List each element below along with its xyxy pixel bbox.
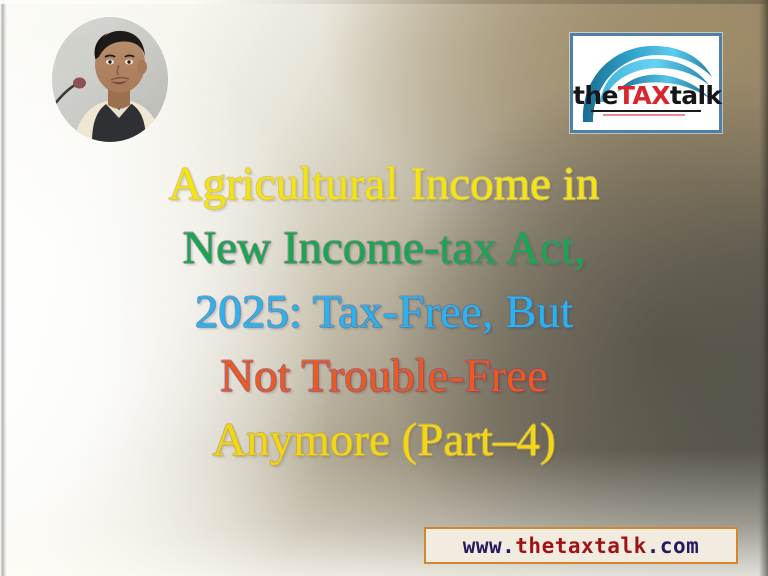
avatar: [52, 17, 168, 142]
website-url-banner[interactable]: www.thetaxtalk.com: [424, 527, 738, 564]
title-line-1: Agricultural Income in: [0, 152, 768, 216]
page-title: Agricultural Income in New Income-tax Ac…: [0, 152, 768, 472]
title-line-3: 2025: Tax-Free, But: [0, 280, 768, 344]
logo-talk-text: talk: [670, 81, 722, 110]
url-domain: thetaxtalk: [515, 534, 646, 558]
title-line-4: Not Trouble-Free: [0, 344, 768, 408]
logo-underline-accent: [603, 114, 685, 116]
website-url-text: www.thetaxtalk.com: [463, 534, 700, 558]
background-edge-top: [0, 0, 768, 4]
thetaxtalk-logo: theTAXtalk: [570, 33, 722, 133]
logo-wordmark: theTAXtalk: [573, 83, 719, 108]
title-line-2: New Income-tax Act,: [0, 216, 768, 280]
promo-banner: theTAXtalk Agricultural Income in New In…: [0, 0, 768, 576]
url-prefix: www.: [463, 534, 516, 558]
logo-underline: [591, 110, 701, 112]
url-tld: .com: [647, 534, 700, 558]
logo-tax-text: TAX: [618, 81, 670, 110]
logo-the-text: the: [573, 81, 618, 110]
title-line-5: Anymore (Part–4): [0, 408, 768, 472]
